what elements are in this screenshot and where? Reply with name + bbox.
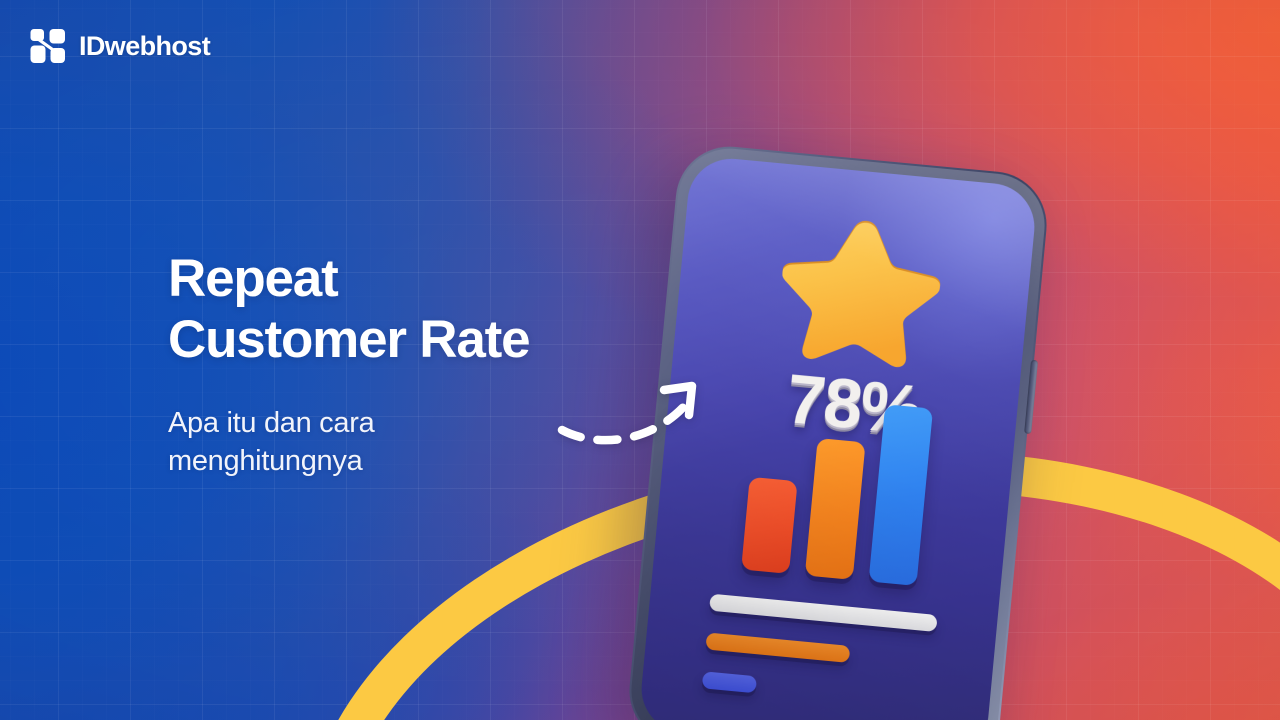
chart-bar-1: [741, 477, 798, 574]
brand-name: IDwebhost: [79, 33, 210, 60]
placeholder-lines: [702, 594, 938, 710]
chart-bar-2: [805, 438, 866, 580]
subheadline-line-2: menghitungnya: [168, 445, 362, 477]
dashed-curved-arrow-icon: [556, 372, 756, 452]
line-blue: [702, 671, 757, 693]
star-icon: [774, 212, 946, 378]
headline-line-1: Repeat: [168, 249, 338, 308]
headline-line-2: Customer Rate: [168, 309, 688, 370]
chart-bar-3: [869, 404, 934, 586]
idwebhost-blocks-icon: [28, 26, 68, 66]
line-orange: [705, 632, 850, 662]
brand-logo[interactable]: IDwebhost: [28, 26, 210, 66]
line-white: [709, 594, 938, 632]
banner-canvas: IDwebhost Repeat Customer Rate Apa itu d…: [0, 0, 1280, 720]
page-title: Repeat Customer Rate: [168, 248, 688, 371]
subheadline-line-1: Apa itu dan cara: [168, 407, 374, 439]
